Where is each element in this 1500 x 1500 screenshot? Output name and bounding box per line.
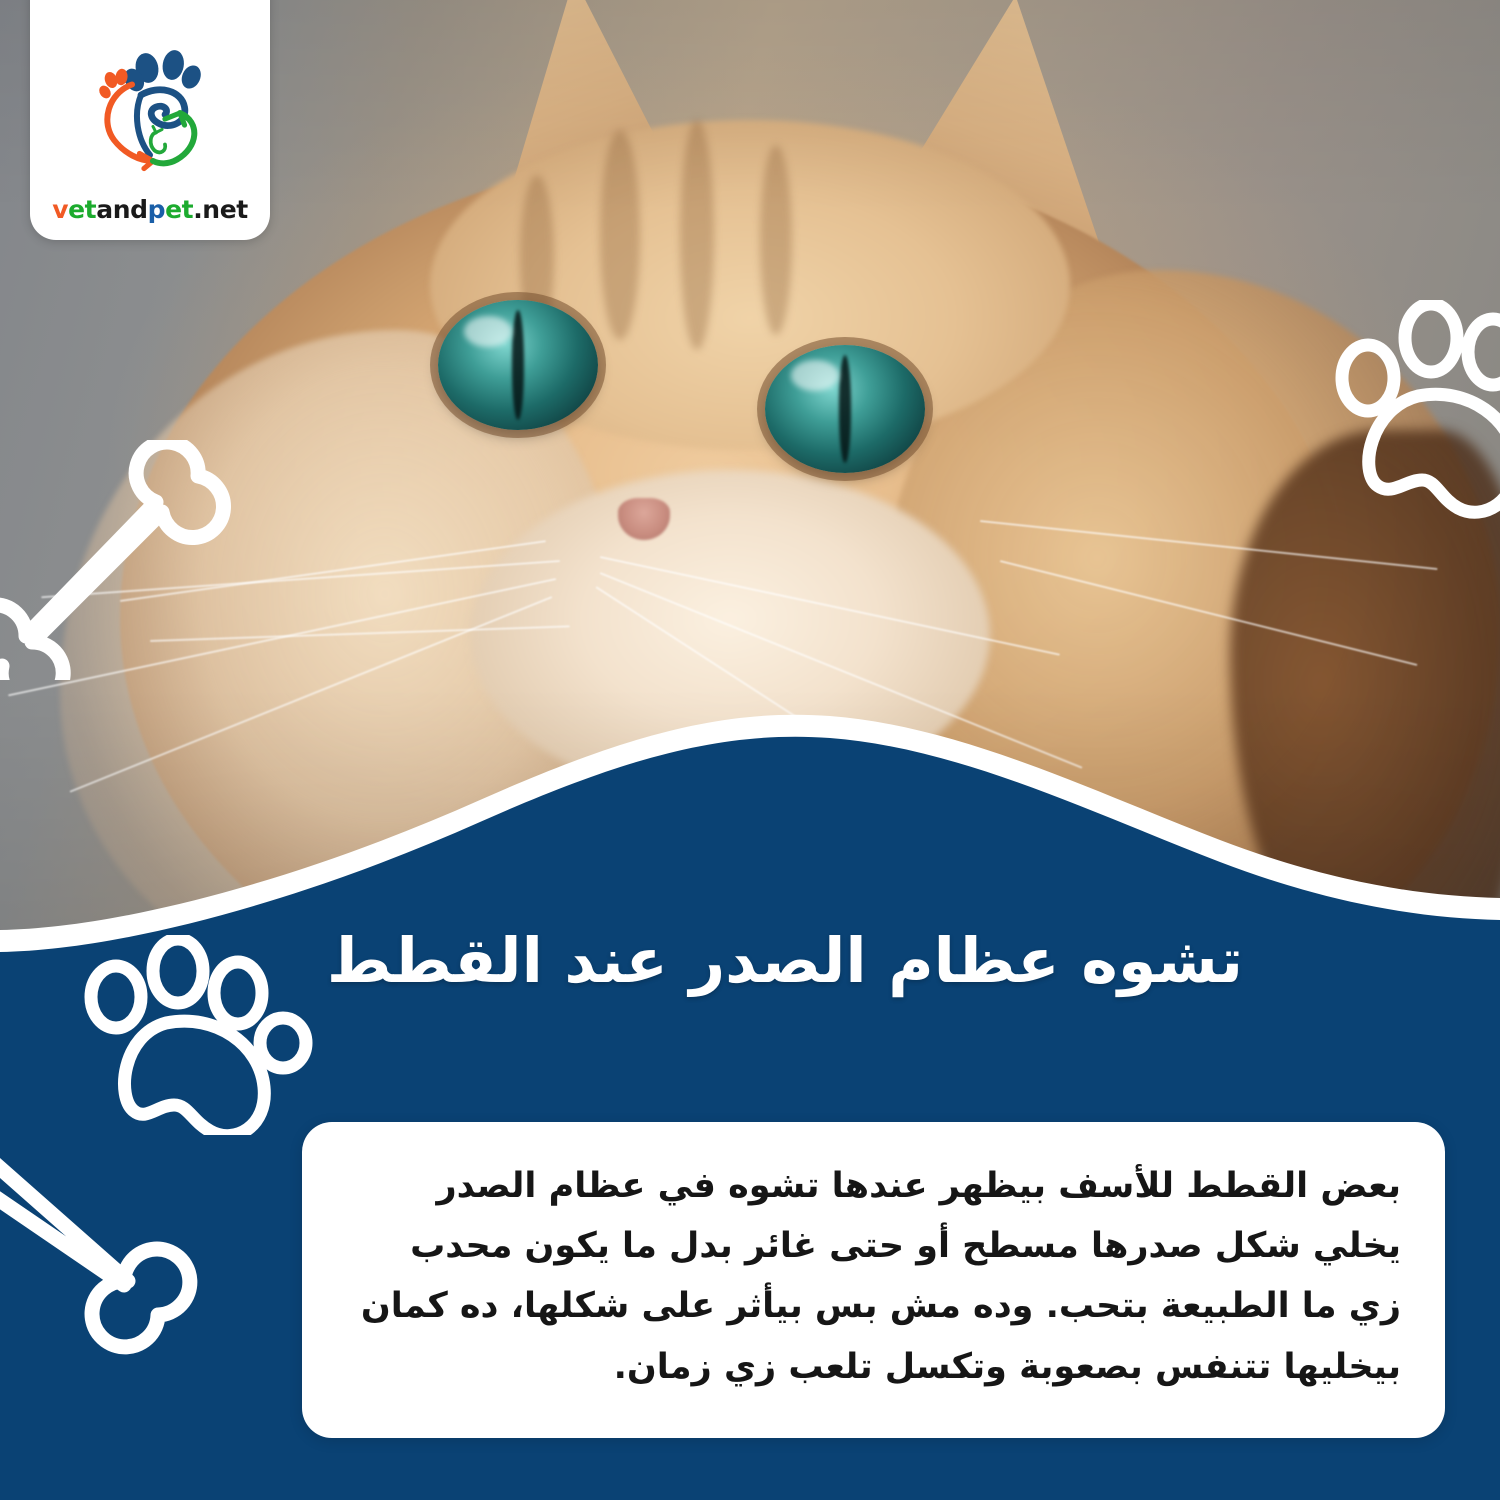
logo-text-part: et <box>68 195 96 224</box>
logo-text-part: and <box>96 195 147 224</box>
brand-logo-text: vetandpet.net <box>52 195 248 224</box>
logo-text-part: et <box>165 195 193 224</box>
logo-text-part: p <box>148 195 166 224</box>
logo-text-part: v <box>52 195 68 224</box>
logo-text-part: .net <box>193 195 248 224</box>
page-title: تشوه عظام الصدر عند القطط <box>140 925 1430 996</box>
body-text-card: بعض القطط للأسف بيظهر عندها تشوه في عظام… <box>302 1122 1445 1438</box>
paw-heart-logo-icon <box>75 41 225 191</box>
brand-logo-badge[interactable]: vetandpet.net <box>30 0 270 240</box>
poster-canvas: تشوه عظام الصدر عند القطط بعض القطط للأس… <box>0 0 1500 1500</box>
body-paragraph: بعض القطط للأسف بيظهر عندها تشوه في عظام… <box>346 1156 1401 1397</box>
